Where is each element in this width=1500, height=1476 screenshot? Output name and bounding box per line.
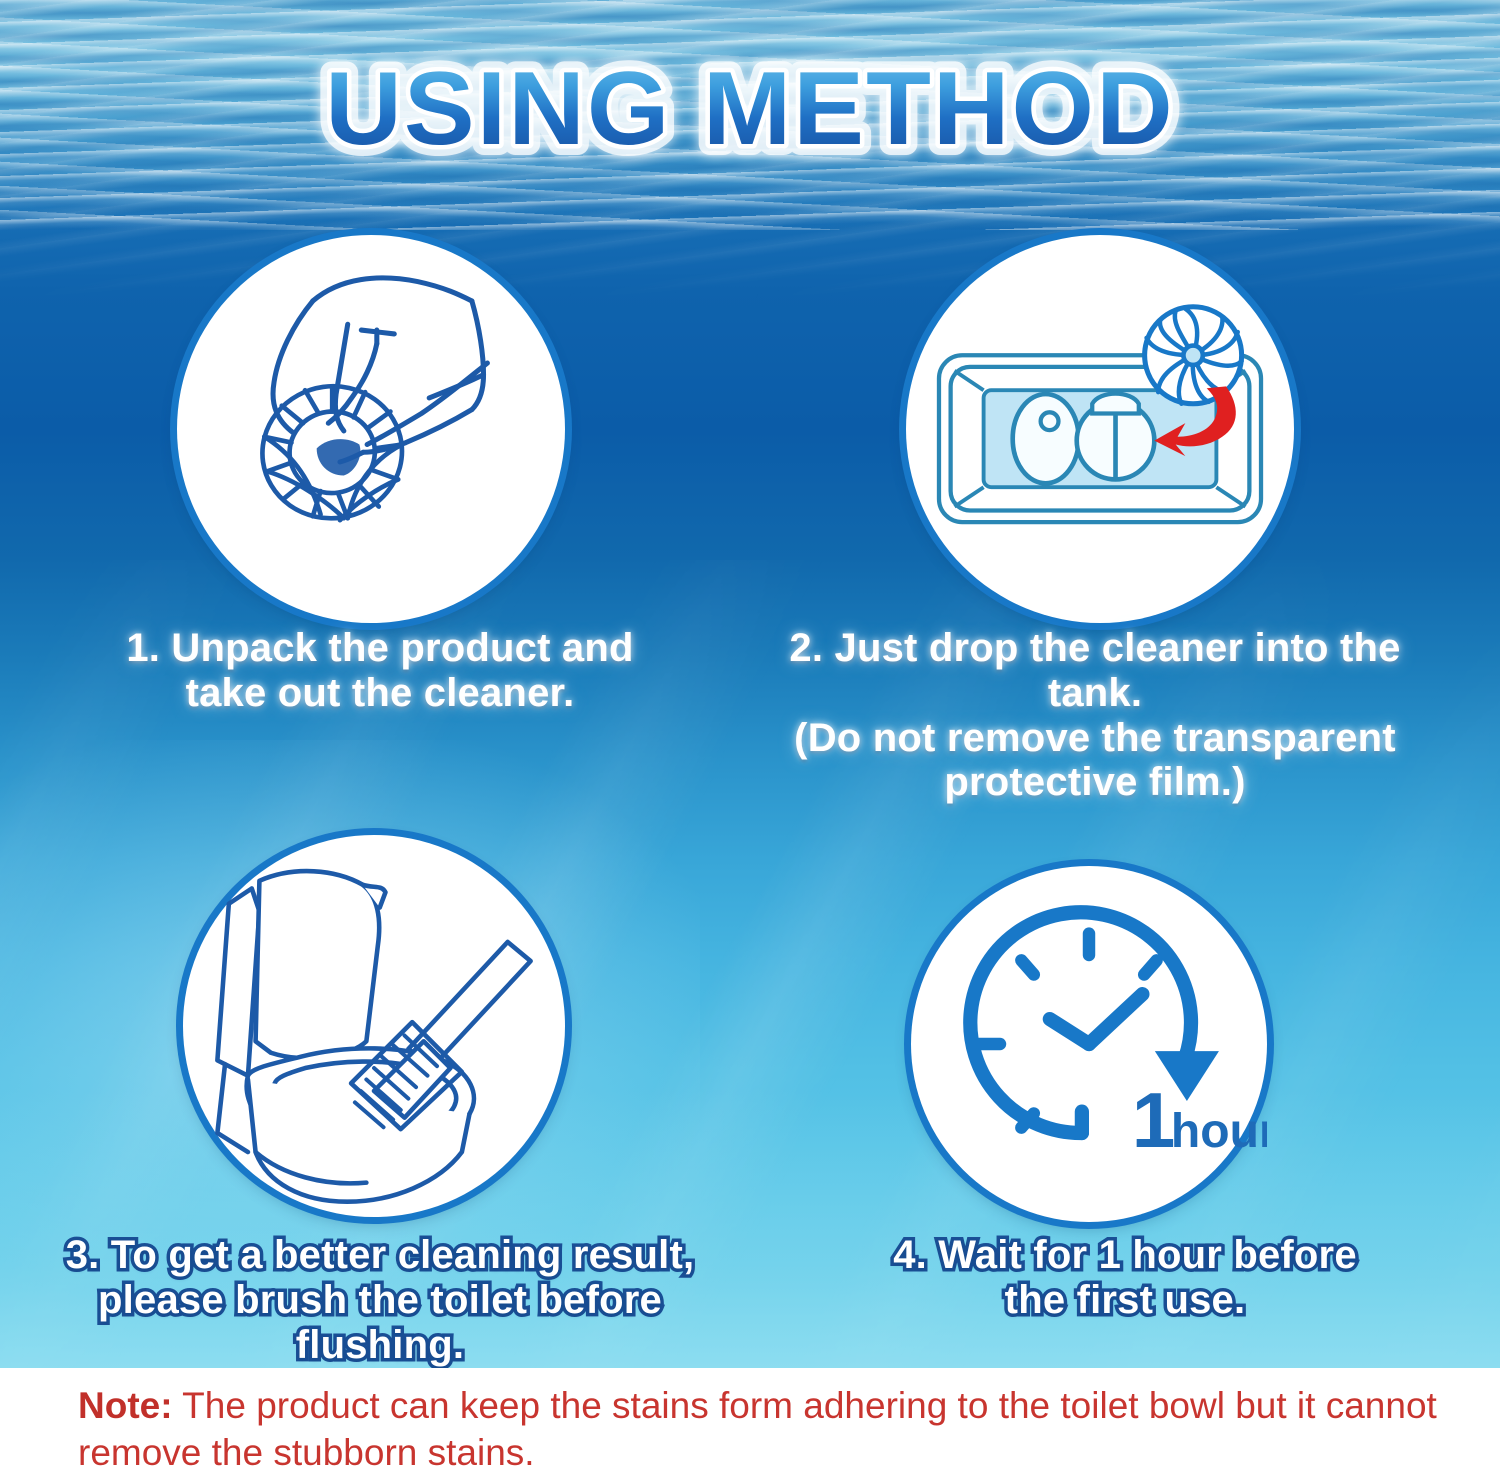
poster-root: USING METHOD USING METHOD USING METHOD [0,0,1500,1476]
step-1-caption: 1. Unpack the product and take out the c… [70,626,690,716]
hand-holding-cleaner-ball-icon [177,235,565,623]
note-label: Note: [78,1385,173,1426]
note-body: The product can keep the stains form adh… [78,1385,1437,1473]
toilet-tank-top-view-with-cleaner-drop-icon [906,235,1294,623]
step-2-icon-circle [906,235,1294,623]
page-title-text: USING METHOD [325,51,1174,167]
step-1-icon-circle [177,235,565,623]
step-4-icon-circle: 1 hour [911,866,1267,1222]
clock-one-hour-icon: 1 hour [911,866,1267,1222]
step-3-caption: 3. To get a better cleaning result, plea… [10,1233,750,1367]
clock-label-unit: hour [1171,1104,1267,1158]
step-2-caption: 2. Just drop the cleaner into the tank. … [740,626,1450,805]
page-title: USING METHOD USING METHOD USING METHOD [0,52,1500,172]
note-text: Note: The product can keep the stains fo… [78,1383,1438,1476]
toilet-with-brush-icon [183,835,565,1217]
clock-label-number: 1 [1132,1076,1176,1164]
step-4-caption: 4. Wait for 1 hour before the first use. [840,1233,1410,1323]
step-3-icon-circle [183,835,565,1217]
